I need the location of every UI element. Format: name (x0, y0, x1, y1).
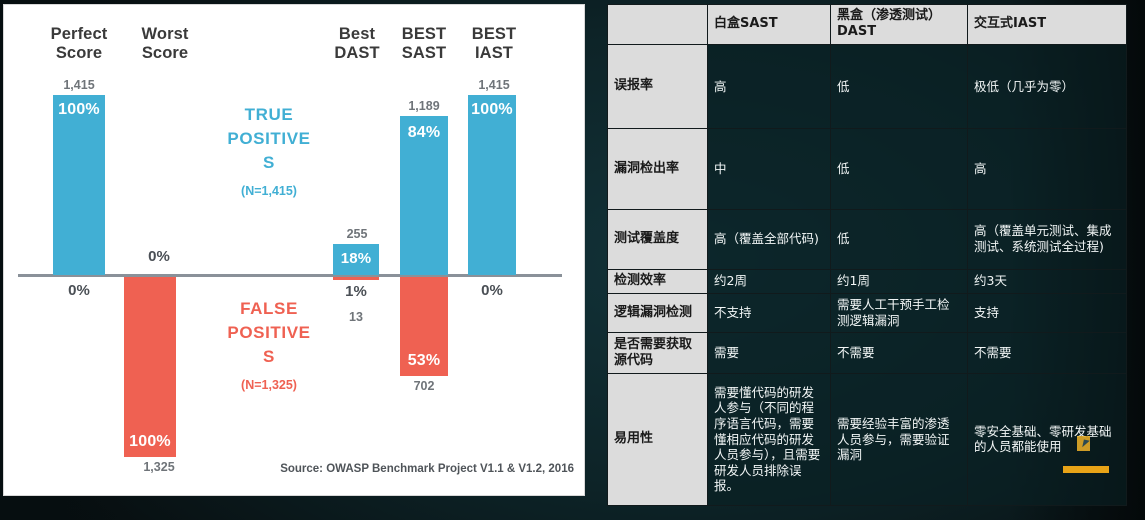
cell-vuln-detection-rate-iast: 高 (968, 129, 1127, 210)
cell-false-positive-rate-iast: 极低（几乎为零） (968, 44, 1127, 129)
bar-value-label: 100% (468, 101, 516, 119)
cell-detection-efficiency-dast: 约1周 (831, 269, 968, 293)
cell-source-code-required-dast: 不需要 (831, 333, 968, 374)
header-line-1: 白盒SAST (714, 16, 824, 32)
bar-count-sast-bottom: 702 (379, 379, 469, 393)
table-column-header-sast: 白盒SAST (708, 5, 831, 45)
bar-count-perfect-top: 1,415 (34, 78, 124, 92)
bar-dast-true-positive: 18% (333, 244, 379, 275)
bar-pct-perfect-bottom: 0% (34, 282, 124, 299)
table-row: 易用性 需要懂代码的研发人参与（不同的程序语言代码，需要懂相应代码的研发人员参与… (608, 373, 1127, 505)
label-line-1: Worst (110, 25, 220, 44)
annotation-line-1: TRUE (199, 103, 339, 127)
sast-dast-iast-comparison-table: 白盒SAST 黑盒（渗透测试） DAST 交互式IAST 误报率 高 低 极低（… (607, 4, 1126, 506)
row-label-test-coverage: 测试覆盖度 (608, 209, 708, 269)
cell-logic-vuln-detection-iast: 支持 (968, 293, 1127, 332)
bar-count-iast-top: 1,415 (449, 78, 539, 92)
table-row: 是否需要获取源代码 需要 不需要 不需要 (608, 333, 1127, 374)
bar-iast-true-positive: 100% (468, 95, 516, 275)
bar-pct-worst-top: 0% (114, 248, 204, 265)
row-label-detection-efficiency: 检测效率 (608, 269, 708, 293)
chart-category-label-best-iast: BEST IAST (444, 25, 544, 63)
cell-ease-of-use-iast: 零安全基础、零研发基础的人员都能使用 (968, 373, 1127, 505)
row-label-false-positive-rate: 误报率 (608, 44, 708, 129)
bar-value-label: 84% (400, 124, 448, 142)
table-row: 漏洞检出率 中 低 高 (608, 129, 1127, 210)
bar-value-label: 100% (53, 101, 105, 119)
annotation-count: (N=1,325) (199, 373, 339, 397)
bar-value-label: 53% (400, 352, 448, 370)
annotation-false-positives: FALSE POSITIVE S (N=1,325) (199, 297, 339, 397)
row-label-logic-vuln-detection: 逻辑漏洞检测 (608, 293, 708, 332)
cell-logic-vuln-detection-dast: 需要人工干预手工检测逻辑漏洞 (831, 293, 968, 332)
cell-false-positive-rate-sast: 高 (708, 44, 831, 129)
cell-ease-of-use-dast: 需要经验丰富的渗透人员参与，需要验证漏洞 (831, 373, 968, 505)
annotation-line-2: POSITIVE (199, 127, 339, 151)
bar-worst-false-positive: 100% (124, 277, 176, 457)
table-row: 检测效率 约2周 约1周 约3天 (608, 269, 1127, 293)
cell-ease-of-use-sast: 需要懂代码的研发人参与（不同的程序语言代码，需要懂相应代码的研发人员参与），且需… (708, 373, 831, 505)
row-label-ease-of-use: 易用性 (608, 373, 708, 505)
cell-false-positive-rate-dast: 低 (831, 44, 968, 129)
bar-value-label: 18% (333, 250, 379, 267)
table-row: 误报率 高 低 极低（几乎为零） (608, 44, 1127, 129)
chart-source-note: Source: OWASP Benchmark Project V1.1 & V… (244, 463, 574, 475)
bar-pct-iast-bottom: 0% (447, 282, 537, 299)
header-line-1: 黑盒（渗透测试） (837, 8, 961, 24)
cell-test-coverage-sast: 高（覆盖全部代码) (708, 209, 831, 269)
label-line-1: BEST (444, 25, 544, 44)
cell-vuln-detection-rate-dast: 低 (831, 129, 968, 210)
header-line-1: 交互式IAST (974, 16, 1120, 32)
bar-count-dast-top: 255 (312, 227, 402, 241)
cell-detection-efficiency-iast: 约3天 (968, 269, 1127, 293)
cell-logic-vuln-detection-sast: 不支持 (708, 293, 831, 332)
header-line-2: DAST (837, 24, 961, 40)
annotation-line-1: FALSE (199, 297, 339, 321)
row-label-vuln-detection-rate: 漏洞检出率 (608, 129, 708, 210)
cell-detection-efficiency-sast: 约2周 (708, 269, 831, 293)
chart-category-label-worst-score: Worst Score (110, 25, 220, 63)
table-column-header-dast: 黑盒（渗透测试） DAST (831, 5, 968, 45)
cell-test-coverage-dast: 低 (831, 209, 968, 269)
annotation-line-3: S (199, 151, 339, 175)
annotation-line-3: S (199, 345, 339, 369)
table-corner-cell (608, 5, 708, 45)
table-row: 测试覆盖度 高（覆盖全部代码) 低 高（覆盖单元测试、集成测试、系统测试全过程) (608, 209, 1127, 269)
label-line-2: IAST (444, 44, 544, 63)
annotation-line-2: POSITIVE (199, 321, 339, 345)
bar-sast-true-positive: 84% (400, 116, 448, 275)
annotation-count: (N=1,415) (199, 179, 339, 203)
yellow-underline-marker (1063, 466, 1109, 473)
bar-value-label: 100% (124, 433, 176, 451)
bar-perfect-true-positive: 100% (53, 95, 105, 275)
bar-count-worst-bottom: 1,325 (114, 460, 204, 474)
cell-source-code-required-sast: 需要 (708, 333, 831, 374)
bar-dast-false-positive (333, 277, 379, 280)
cell-vuln-detection-rate-sast: 中 (708, 129, 831, 210)
table-header-row: 白盒SAST 黑盒（渗透测试） DAST 交互式IAST (608, 5, 1127, 45)
row-label-source-code-required: 是否需要获取源代码 (608, 333, 708, 374)
bar-count-sast-top: 1,189 (379, 99, 469, 113)
comparison-table: 白盒SAST 黑盒（渗透测试） DAST 交互式IAST 误报率 高 低 极低（… (607, 4, 1127, 506)
cell-test-coverage-iast: 高（覆盖单元测试、集成测试、系统测试全过程) (968, 209, 1127, 269)
owasp-benchmark-chart: Perfect Score Worst Score Best DAST BEST… (4, 5, 584, 495)
table-row: 逻辑漏洞检测 不支持 需要人工干预手工检测逻辑漏洞 支持 (608, 293, 1127, 332)
bar-sast-false-positive: 53% (400, 277, 448, 376)
cell-source-code-required-iast: 不需要 (968, 333, 1127, 374)
annotation-true-positives: TRUE POSITIVE S (N=1,415) (199, 103, 339, 203)
table-column-header-iast: 交互式IAST (968, 5, 1127, 45)
label-line-2: Score (110, 44, 220, 63)
